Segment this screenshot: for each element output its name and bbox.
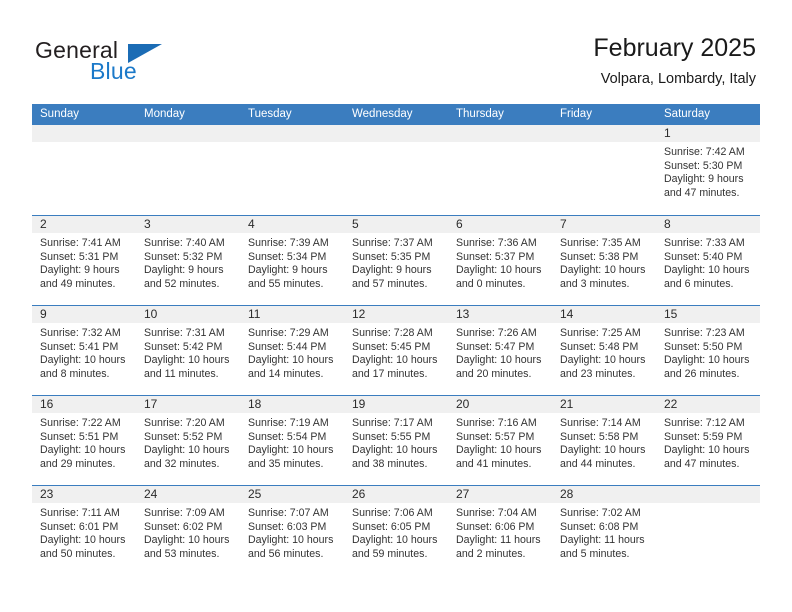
daylight-text: Daylight: 10 hours and 47 minutes.	[664, 444, 754, 471]
sunset-text: Sunset: 5:31 PM	[40, 251, 130, 265]
page-subtitle: Volpara, Lombardy, Italy	[336, 69, 756, 89]
sunrise-text: Sunrise: 7:17 AM	[352, 417, 442, 431]
sunrise-text: Sunrise: 7:19 AM	[248, 417, 338, 431]
day-number: 27	[448, 486, 552, 503]
day-cell[interactable]: 1Sunrise: 7:42 AMSunset: 5:30 PMDaylight…	[656, 125, 760, 215]
sunrise-text: Sunrise: 7:16 AM	[456, 417, 546, 431]
day-number: 10	[136, 306, 240, 323]
day-number: 16	[32, 396, 136, 413]
sunrise-text: Sunrise: 7:35 AM	[560, 237, 650, 251]
sunrise-text: Sunrise: 7:02 AM	[560, 507, 650, 521]
day-number: 14	[552, 306, 656, 323]
daylight-text: Daylight: 11 hours and 2 minutes.	[456, 534, 546, 561]
sunset-text: Sunset: 6:08 PM	[560, 521, 650, 535]
day-cell[interactable]: 24Sunrise: 7:09 AMSunset: 6:02 PMDayligh…	[136, 486, 240, 575]
sunrise-text: Sunrise: 7:39 AM	[248, 237, 338, 251]
day-sun-info: Sunrise: 7:09 AMSunset: 6:02 PMDaylight:…	[136, 503, 240, 561]
day-sun-info: Sunrise: 7:25 AMSunset: 5:48 PMDaylight:…	[552, 323, 656, 381]
day-cell[interactable]: 22Sunrise: 7:12 AMSunset: 5:59 PMDayligh…	[656, 396, 760, 485]
day-cell[interactable]: 28Sunrise: 7:02 AMSunset: 6:08 PMDayligh…	[552, 486, 656, 575]
sunset-text: Sunset: 5:37 PM	[456, 251, 546, 265]
daylight-text: Daylight: 10 hours and 50 minutes.	[40, 534, 130, 561]
day-sun-info: Sunrise: 7:16 AMSunset: 5:57 PMDaylight:…	[448, 413, 552, 471]
day-sun-info: Sunrise: 7:22 AMSunset: 5:51 PMDaylight:…	[32, 413, 136, 471]
daylight-text: Daylight: 9 hours and 52 minutes.	[144, 264, 234, 291]
daylight-text: Daylight: 10 hours and 32 minutes.	[144, 444, 234, 471]
day-sun-info: Sunrise: 7:07 AMSunset: 6:03 PMDaylight:…	[240, 503, 344, 561]
weekday-monday: Monday	[136, 104, 240, 125]
day-cell-empty	[136, 125, 240, 215]
sunset-text: Sunset: 5:59 PM	[664, 431, 754, 445]
sunrise-text: Sunrise: 7:07 AM	[248, 507, 338, 521]
day-number: 5	[344, 216, 448, 233]
sunrise-text: Sunrise: 7:26 AM	[456, 327, 546, 341]
day-sun-info: Sunrise: 7:06 AMSunset: 6:05 PMDaylight:…	[344, 503, 448, 561]
sunrise-text: Sunrise: 7:42 AM	[664, 146, 754, 160]
daylight-text: Daylight: 10 hours and 59 minutes.	[352, 534, 442, 561]
day-number: 17	[136, 396, 240, 413]
day-cell[interactable]: 2Sunrise: 7:41 AMSunset: 5:31 PMDaylight…	[32, 216, 136, 305]
day-sun-info: Sunrise: 7:23 AMSunset: 5:50 PMDaylight:…	[656, 323, 760, 381]
day-sun-info: Sunrise: 7:37 AMSunset: 5:35 PMDaylight:…	[344, 233, 448, 291]
sunset-text: Sunset: 5:42 PM	[144, 341, 234, 355]
daylight-text: Daylight: 10 hours and 41 minutes.	[456, 444, 546, 471]
sunrise-text: Sunrise: 7:12 AM	[664, 417, 754, 431]
daylight-text: Daylight: 10 hours and 35 minutes.	[248, 444, 338, 471]
day-number	[448, 125, 552, 142]
day-sun-info: Sunrise: 7:14 AMSunset: 5:58 PMDaylight:…	[552, 413, 656, 471]
day-sun-info: Sunrise: 7:02 AMSunset: 6:08 PMDaylight:…	[552, 503, 656, 561]
day-cell[interactable]: 25Sunrise: 7:07 AMSunset: 6:03 PMDayligh…	[240, 486, 344, 575]
day-number: 1	[656, 125, 760, 142]
day-sun-info: Sunrise: 7:17 AMSunset: 5:55 PMDaylight:…	[344, 413, 448, 471]
day-number: 4	[240, 216, 344, 233]
day-cell[interactable]: 26Sunrise: 7:06 AMSunset: 6:05 PMDayligh…	[344, 486, 448, 575]
day-cell-empty	[32, 125, 136, 215]
calendar-grid: Sunday Monday Tuesday Wednesday Thursday…	[32, 104, 760, 575]
day-cell[interactable]: 17Sunrise: 7:20 AMSunset: 5:52 PMDayligh…	[136, 396, 240, 485]
day-number	[552, 125, 656, 142]
calendar-weeks: 1Sunrise: 7:42 AMSunset: 5:30 PMDaylight…	[32, 125, 760, 575]
daylight-text: Daylight: 10 hours and 38 minutes.	[352, 444, 442, 471]
sunset-text: Sunset: 5:50 PM	[664, 341, 754, 355]
day-number: 25	[240, 486, 344, 503]
daylight-text: Daylight: 10 hours and 26 minutes.	[664, 354, 754, 381]
sunset-text: Sunset: 6:02 PM	[144, 521, 234, 535]
sunrise-text: Sunrise: 7:36 AM	[456, 237, 546, 251]
daylight-text: Daylight: 10 hours and 56 minutes.	[248, 534, 338, 561]
day-number: 22	[656, 396, 760, 413]
day-cell[interactable]: 9Sunrise: 7:32 AMSunset: 5:41 PMDaylight…	[32, 306, 136, 395]
day-cell[interactable]: 3Sunrise: 7:40 AMSunset: 5:32 PMDaylight…	[136, 216, 240, 305]
calendar-page: General Blue February 2025 Volpara, Lomb…	[0, 0, 792, 612]
day-sun-info: Sunrise: 7:20 AMSunset: 5:52 PMDaylight:…	[136, 413, 240, 471]
day-cell[interactable]: 4Sunrise: 7:39 AMSunset: 5:34 PMDaylight…	[240, 216, 344, 305]
day-cell[interactable]: 23Sunrise: 7:11 AMSunset: 6:01 PMDayligh…	[32, 486, 136, 575]
weekday-friday: Friday	[552, 104, 656, 125]
sunset-text: Sunset: 5:47 PM	[456, 341, 546, 355]
sunset-text: Sunset: 5:57 PM	[456, 431, 546, 445]
weekday-sunday: Sunday	[32, 104, 136, 125]
sunset-text: Sunset: 5:44 PM	[248, 341, 338, 355]
sunrise-text: Sunrise: 7:25 AM	[560, 327, 650, 341]
day-number: 2	[32, 216, 136, 233]
day-number: 28	[552, 486, 656, 503]
calendar-week-row: 1Sunrise: 7:42 AMSunset: 5:30 PMDaylight…	[32, 125, 760, 215]
daylight-text: Daylight: 10 hours and 6 minutes.	[664, 264, 754, 291]
day-cell[interactable]: 13Sunrise: 7:26 AMSunset: 5:47 PMDayligh…	[448, 306, 552, 395]
daylight-text: Daylight: 10 hours and 14 minutes.	[248, 354, 338, 381]
calendar-week-row: 2Sunrise: 7:41 AMSunset: 5:31 PMDaylight…	[32, 215, 760, 305]
day-cell[interactable]: 5Sunrise: 7:37 AMSunset: 5:35 PMDaylight…	[344, 216, 448, 305]
logo-text-blue: Blue	[90, 58, 137, 85]
sunset-text: Sunset: 5:35 PM	[352, 251, 442, 265]
sunset-text: Sunset: 5:40 PM	[664, 251, 754, 265]
daylight-text: Daylight: 10 hours and 8 minutes.	[40, 354, 130, 381]
weekday-thursday: Thursday	[448, 104, 552, 125]
daylight-text: Daylight: 9 hours and 55 minutes.	[248, 264, 338, 291]
day-sun-info: Sunrise: 7:12 AMSunset: 5:59 PMDaylight:…	[656, 413, 760, 471]
day-sun-info: Sunrise: 7:19 AMSunset: 5:54 PMDaylight:…	[240, 413, 344, 471]
day-number	[656, 486, 760, 503]
day-cell[interactable]: 12Sunrise: 7:28 AMSunset: 5:45 PMDayligh…	[344, 306, 448, 395]
day-sun-info: Sunrise: 7:39 AMSunset: 5:34 PMDaylight:…	[240, 233, 344, 291]
daylight-text: Daylight: 10 hours and 0 minutes.	[456, 264, 546, 291]
sunset-text: Sunset: 5:54 PM	[248, 431, 338, 445]
sunrise-text: Sunrise: 7:04 AM	[456, 507, 546, 521]
general-blue-logo[interactable]: General Blue	[35, 37, 275, 87]
day-cell[interactable]: 16Sunrise: 7:22 AMSunset: 5:51 PMDayligh…	[32, 396, 136, 485]
sunset-text: Sunset: 5:32 PM	[144, 251, 234, 265]
day-number	[32, 125, 136, 142]
sunrise-text: Sunrise: 7:37 AM	[352, 237, 442, 251]
sunset-text: Sunset: 5:45 PM	[352, 341, 442, 355]
weekday-header-row: Sunday Monday Tuesday Wednesday Thursday…	[32, 104, 760, 125]
day-cell[interactable]: 7Sunrise: 7:35 AMSunset: 5:38 PMDaylight…	[552, 216, 656, 305]
sunrise-text: Sunrise: 7:31 AM	[144, 327, 234, 341]
day-cell[interactable]: 15Sunrise: 7:23 AMSunset: 5:50 PMDayligh…	[656, 306, 760, 395]
day-sun-info: Sunrise: 7:41 AMSunset: 5:31 PMDaylight:…	[32, 233, 136, 291]
day-sun-info: Sunrise: 7:26 AMSunset: 5:47 PMDaylight:…	[448, 323, 552, 381]
day-cell[interactable]: 6Sunrise: 7:36 AMSunset: 5:37 PMDaylight…	[448, 216, 552, 305]
daylight-text: Daylight: 9 hours and 57 minutes.	[352, 264, 442, 291]
sunset-text: Sunset: 5:41 PM	[40, 341, 130, 355]
day-number: 12	[344, 306, 448, 323]
day-number: 20	[448, 396, 552, 413]
sunrise-text: Sunrise: 7:33 AM	[664, 237, 754, 251]
day-number: 6	[448, 216, 552, 233]
daylight-text: Daylight: 10 hours and 53 minutes.	[144, 534, 234, 561]
sunset-text: Sunset: 5:52 PM	[144, 431, 234, 445]
day-sun-info: Sunrise: 7:04 AMSunset: 6:06 PMDaylight:…	[448, 503, 552, 561]
day-number: 11	[240, 306, 344, 323]
day-number: 21	[552, 396, 656, 413]
daylight-text: Daylight: 10 hours and 11 minutes.	[144, 354, 234, 381]
day-cell-empty	[344, 125, 448, 215]
day-cell-empty	[552, 125, 656, 215]
sunset-text: Sunset: 5:51 PM	[40, 431, 130, 445]
daylight-text: Daylight: 9 hours and 47 minutes.	[664, 173, 754, 200]
weekday-tuesday: Tuesday	[240, 104, 344, 125]
day-number	[136, 125, 240, 142]
day-cell-empty	[656, 486, 760, 575]
day-cell-empty	[240, 125, 344, 215]
day-cell[interactable]: 14Sunrise: 7:25 AMSunset: 5:48 PMDayligh…	[552, 306, 656, 395]
sunset-text: Sunset: 5:55 PM	[352, 431, 442, 445]
daylight-text: Daylight: 9 hours and 49 minutes.	[40, 264, 130, 291]
day-sun-info: Sunrise: 7:35 AMSunset: 5:38 PMDaylight:…	[552, 233, 656, 291]
day-cell[interactable]: 18Sunrise: 7:19 AMSunset: 5:54 PMDayligh…	[240, 396, 344, 485]
day-cell[interactable]: 19Sunrise: 7:17 AMSunset: 5:55 PMDayligh…	[344, 396, 448, 485]
sunrise-text: Sunrise: 7:32 AM	[40, 327, 130, 341]
day-number: 23	[32, 486, 136, 503]
day-sun-info: Sunrise: 7:33 AMSunset: 5:40 PMDaylight:…	[656, 233, 760, 291]
sunset-text: Sunset: 5:30 PM	[664, 160, 754, 174]
calendar-week-row: 23Sunrise: 7:11 AMSunset: 6:01 PMDayligh…	[32, 485, 760, 575]
day-sun-info: Sunrise: 7:31 AMSunset: 5:42 PMDaylight:…	[136, 323, 240, 381]
daylight-text: Daylight: 10 hours and 29 minutes.	[40, 444, 130, 471]
sunrise-text: Sunrise: 7:41 AM	[40, 237, 130, 251]
day-number: 8	[656, 216, 760, 233]
daylight-text: Daylight: 10 hours and 20 minutes.	[456, 354, 546, 381]
sunrise-text: Sunrise: 7:29 AM	[248, 327, 338, 341]
calendar-week-row: 9Sunrise: 7:32 AMSunset: 5:41 PMDaylight…	[32, 305, 760, 395]
calendar-week-row: 16Sunrise: 7:22 AMSunset: 5:51 PMDayligh…	[32, 395, 760, 485]
day-cell[interactable]: 8Sunrise: 7:33 AMSunset: 5:40 PMDaylight…	[656, 216, 760, 305]
day-cell[interactable]: 11Sunrise: 7:29 AMSunset: 5:44 PMDayligh…	[240, 306, 344, 395]
day-sun-info: Sunrise: 7:36 AMSunset: 5:37 PMDaylight:…	[448, 233, 552, 291]
page-title: February 2025	[336, 33, 756, 63]
day-sun-info: Sunrise: 7:32 AMSunset: 5:41 PMDaylight:…	[32, 323, 136, 381]
day-sun-info: Sunrise: 7:29 AMSunset: 5:44 PMDaylight:…	[240, 323, 344, 381]
sunset-text: Sunset: 6:05 PM	[352, 521, 442, 535]
daylight-text: Daylight: 10 hours and 17 minutes.	[352, 354, 442, 381]
day-number: 26	[344, 486, 448, 503]
sunset-text: Sunset: 5:48 PM	[560, 341, 650, 355]
daylight-text: Daylight: 10 hours and 23 minutes.	[560, 354, 650, 381]
day-cell-empty	[448, 125, 552, 215]
day-cell[interactable]: 21Sunrise: 7:14 AMSunset: 5:58 PMDayligh…	[552, 396, 656, 485]
day-sun-info: Sunrise: 7:40 AMSunset: 5:32 PMDaylight:…	[136, 233, 240, 291]
day-number: 18	[240, 396, 344, 413]
day-number	[344, 125, 448, 142]
day-number: 3	[136, 216, 240, 233]
day-number: 13	[448, 306, 552, 323]
sunset-text: Sunset: 5:38 PM	[560, 251, 650, 265]
day-sun-info: Sunrise: 7:28 AMSunset: 5:45 PMDaylight:…	[344, 323, 448, 381]
day-sun-info: Sunrise: 7:11 AMSunset: 6:01 PMDaylight:…	[32, 503, 136, 561]
day-cell[interactable]: 27Sunrise: 7:04 AMSunset: 6:06 PMDayligh…	[448, 486, 552, 575]
page-header: General Blue February 2025 Volpara, Lomb…	[0, 0, 792, 104]
sunset-text: Sunset: 5:58 PM	[560, 431, 650, 445]
sunrise-text: Sunrise: 7:11 AM	[40, 507, 130, 521]
weekday-wednesday: Wednesday	[344, 104, 448, 125]
day-number: 15	[656, 306, 760, 323]
title-block: February 2025 Volpara, Lombardy, Italy	[336, 33, 756, 89]
sunrise-text: Sunrise: 7:28 AM	[352, 327, 442, 341]
day-sun-info: Sunrise: 7:42 AMSunset: 5:30 PMDaylight:…	[656, 142, 760, 200]
daylight-text: Daylight: 11 hours and 5 minutes.	[560, 534, 650, 561]
weekday-saturday: Saturday	[656, 104, 760, 125]
sunrise-text: Sunrise: 7:20 AM	[144, 417, 234, 431]
day-number: 9	[32, 306, 136, 323]
sunset-text: Sunset: 6:06 PM	[456, 521, 546, 535]
day-cell[interactable]: 20Sunrise: 7:16 AMSunset: 5:57 PMDayligh…	[448, 396, 552, 485]
daylight-text: Daylight: 10 hours and 3 minutes.	[560, 264, 650, 291]
sunset-text: Sunset: 6:01 PM	[40, 521, 130, 535]
day-number	[240, 125, 344, 142]
sunrise-text: Sunrise: 7:09 AM	[144, 507, 234, 521]
sunrise-text: Sunrise: 7:22 AM	[40, 417, 130, 431]
sunrise-text: Sunrise: 7:23 AM	[664, 327, 754, 341]
sunrise-text: Sunrise: 7:40 AM	[144, 237, 234, 251]
day-number: 7	[552, 216, 656, 233]
day-number: 19	[344, 396, 448, 413]
day-number: 24	[136, 486, 240, 503]
day-cell[interactable]: 10Sunrise: 7:31 AMSunset: 5:42 PMDayligh…	[136, 306, 240, 395]
sunset-text: Sunset: 6:03 PM	[248, 521, 338, 535]
daylight-text: Daylight: 10 hours and 44 minutes.	[560, 444, 650, 471]
sunrise-text: Sunrise: 7:14 AM	[560, 417, 650, 431]
sunrise-text: Sunrise: 7:06 AM	[352, 507, 442, 521]
sunset-text: Sunset: 5:34 PM	[248, 251, 338, 265]
